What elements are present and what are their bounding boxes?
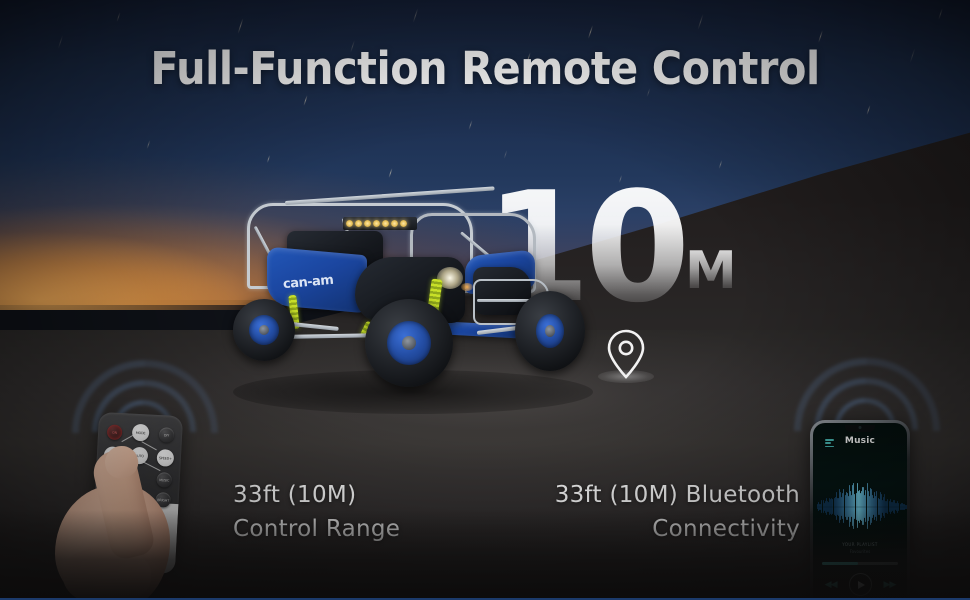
lamp-6 — [391, 220, 398, 227]
lamp-7 — [400, 220, 407, 227]
distance-unit: M — [685, 245, 737, 297]
remote-power-button[interactable]: ON — [107, 424, 123, 440]
lamp-5 — [382, 220, 389, 227]
bottom-fade — [0, 510, 970, 600]
location-pin-icon — [604, 328, 648, 380]
lamp-4 — [373, 220, 380, 227]
page-title: Full-Function Remote Control — [39, 42, 931, 95]
roof-light-bar — [343, 217, 417, 230]
music-app-title: Music — [813, 436, 907, 446]
remote-power-label: ON — [107, 430, 122, 435]
wheel-front-right — [515, 291, 585, 371]
promo-banner: Full-Function Remote Control 10 M — [0, 0, 970, 600]
front-camera-icon — [859, 426, 862, 429]
caption-right-line1: 33ft (10M) Bluetooth — [500, 478, 800, 512]
lamp-1 — [346, 220, 353, 227]
wheel-rear-left — [233, 299, 295, 361]
remote-button-label: DIY — [159, 433, 174, 438]
remote-button-mode[interactable]: MODE — [132, 424, 150, 442]
caption-left-line1: 33ft (10M) — [233, 478, 400, 512]
marker-light — [461, 283, 473, 291]
wheel-front-left — [365, 299, 453, 387]
lamp-2 — [355, 220, 362, 227]
hub-front-right — [545, 325, 555, 337]
utv-vehicle-image: can-am — [225, 195, 595, 420]
lamp-3 — [364, 220, 371, 227]
hub-front-left — [402, 336, 416, 350]
hub-rear-left — [259, 325, 269, 335]
